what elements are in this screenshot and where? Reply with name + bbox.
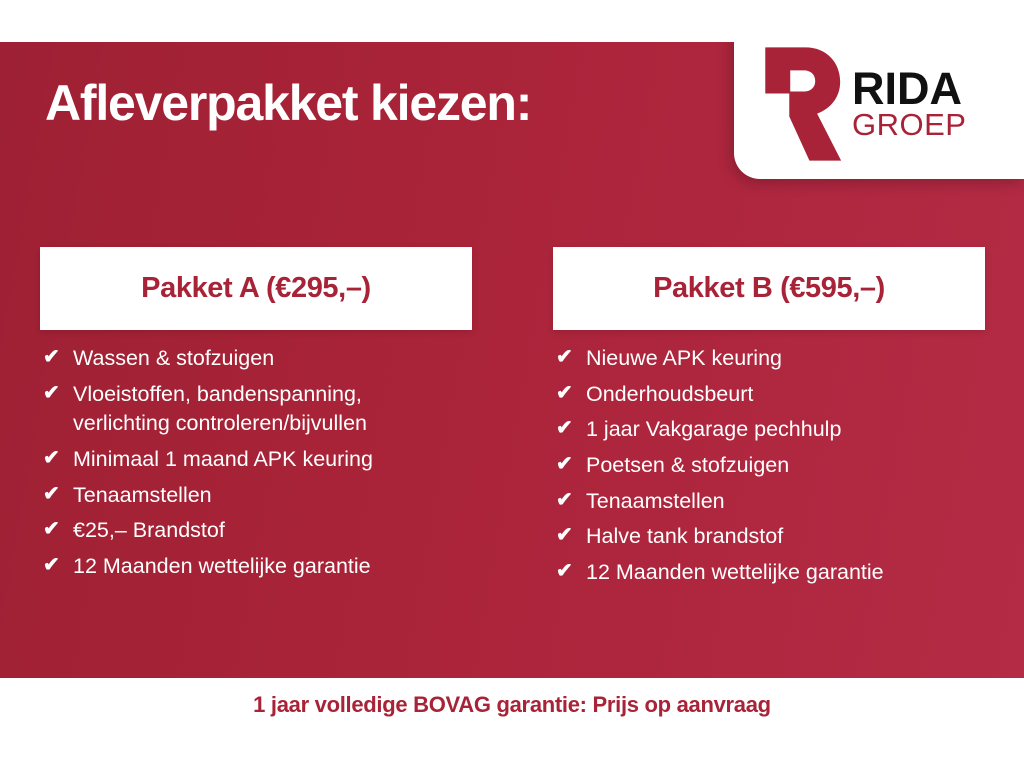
- check-icon: ✔: [40, 516, 73, 544]
- list-item: ✔ Tenaamstellen: [553, 487, 985, 517]
- packages-container: Pakket A (€295,–) ✔ Wassen & stofzuigen …: [0, 42, 1024, 678]
- list-item-label: 12 Maanden wettelijke garantie: [586, 558, 985, 588]
- package-b-title: Pakket B (€595,–): [653, 272, 885, 305]
- list-item-label: Tenaamstellen: [73, 481, 472, 511]
- list-item: ✔ Poetsen & stofzuigen: [553, 451, 985, 481]
- check-icon: ✔: [553, 558, 586, 586]
- list-item-label: Wassen & stofzuigen: [73, 344, 472, 374]
- package-a-header-card[interactable]: Pakket A (€295,–): [40, 247, 472, 330]
- list-item-label: Poetsen & stofzuigen: [586, 451, 985, 481]
- footer-note: 1 jaar volledige BOVAG garantie: Prijs o…: [253, 692, 771, 718]
- package-column-a: Pakket A (€295,–) ✔ Wassen & stofzuigen …: [40, 247, 472, 588]
- check-icon: ✔: [553, 380, 586, 408]
- list-item-label: 12 Maanden wettelijke garantie: [73, 552, 472, 582]
- check-icon: ✔: [40, 552, 73, 580]
- list-item: ✔ €25,– Brandstof: [40, 516, 472, 546]
- red-panel: Afleverpakket kiezen: RIDA GROEP Pakket …: [0, 42, 1024, 678]
- package-a-title: Pakket A (€295,–): [141, 272, 371, 305]
- list-item-label: 1 jaar Vakgarage pechhulp: [586, 415, 985, 445]
- list-item-label: €25,– Brandstof: [73, 516, 472, 546]
- slide-canvas: Afleverpakket kiezen: RIDA GROEP Pakket …: [0, 0, 1024, 768]
- package-column-b: Pakket B (€595,–) ✔ Nieuwe APK keuring ✔…: [553, 247, 985, 594]
- check-icon: ✔: [553, 344, 586, 372]
- list-item: ✔ Nieuwe APK keuring: [553, 344, 985, 374]
- check-icon: ✔: [553, 487, 586, 515]
- check-icon: ✔: [553, 522, 586, 550]
- list-item: ✔ Vloeistoffen, bandenspanning, verlicht…: [40, 380, 472, 439]
- list-item: ✔ 12 Maanden wettelijke garantie: [553, 558, 985, 588]
- list-item: ✔ Halve tank brandstof: [553, 522, 985, 552]
- footer-bar: 1 jaar volledige BOVAG garantie: Prijs o…: [0, 678, 1024, 768]
- check-icon: ✔: [40, 481, 73, 509]
- check-icon: ✔: [553, 415, 586, 443]
- check-icon: ✔: [40, 380, 73, 408]
- check-icon: ✔: [40, 445, 73, 473]
- list-item: ✔ Onderhoudsbeurt: [553, 380, 985, 410]
- list-item-label: Halve tank brandstof: [586, 522, 985, 552]
- list-item: ✔ Wassen & stofzuigen: [40, 344, 472, 374]
- package-b-feature-list: ✔ Nieuwe APK keuring ✔ Onderhoudsbeurt ✔…: [553, 330, 985, 588]
- list-item-label: Minimaal 1 maand APK keuring: [73, 445, 472, 475]
- list-item-label: Nieuwe APK keuring: [586, 344, 985, 374]
- list-item: ✔ 1 jaar Vakgarage pechhulp: [553, 415, 985, 445]
- list-item: ✔ Tenaamstellen: [40, 481, 472, 511]
- list-item-label: Onderhoudsbeurt: [586, 380, 985, 410]
- list-item: ✔ 12 Maanden wettelijke garantie: [40, 552, 472, 582]
- list-item: ✔ Minimaal 1 maand APK keuring: [40, 445, 472, 475]
- package-b-header-card[interactable]: Pakket B (€595,–): [553, 247, 985, 330]
- list-item-label: Tenaamstellen: [586, 487, 985, 517]
- check-icon: ✔: [40, 344, 73, 372]
- check-icon: ✔: [553, 451, 586, 479]
- list-item-label: Vloeistoffen, bandenspanning, verlichtin…: [73, 380, 472, 439]
- package-a-feature-list: ✔ Wassen & stofzuigen ✔ Vloeistoffen, ba…: [40, 330, 472, 582]
